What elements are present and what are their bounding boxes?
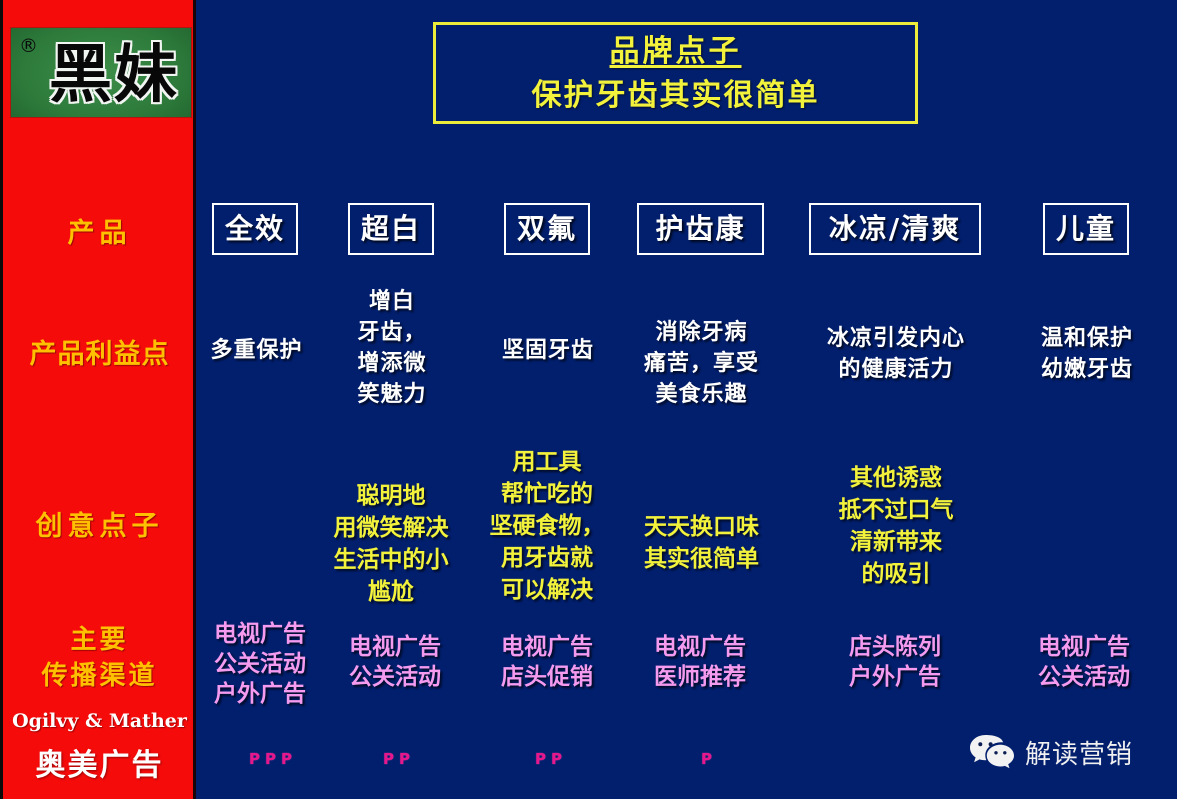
left-sidebar: ® 黑妹 产品 产品利益点 创意点子 主要 传播渠道 Ogilvy & Math…	[3, 0, 196, 799]
row-label-product: 产品	[3, 211, 196, 250]
slide-title-box: 品牌点子 保护牙齿其实很简单	[433, 22, 918, 124]
idea-cell-bingliang: 其他诱惑 抵不过口气 清新带来 的吸引	[803, 462, 989, 590]
wechat-watermark: 解读营销	[968, 733, 1133, 771]
benefit-cell-huchikang: 消除牙病 痛苦，享受 美食乐趣	[623, 317, 780, 410]
channel-cell-quanxiao: 电视广告 公关活动 户外广告	[199, 619, 321, 709]
agency-name-cn: 奥美广告	[3, 740, 196, 784]
channel-cell-huchikang: 电视广告 医师推荐	[637, 632, 763, 692]
marker-row-chaobai: PP	[375, 750, 423, 768]
slide-canvas: ® 黑妹 产品 产品利益点 创意点子 主要 传播渠道 Ogilvy & Math…	[0, 0, 1177, 799]
row-label-benefit: 产品利益点	[3, 332, 196, 371]
idea-cell-chaobai: 聪明地 用微笑解决 生活中的小 尴尬	[316, 480, 466, 608]
idea-cell-huchikang: 天天换口味 其实很简单	[628, 511, 775, 575]
watermark-label: 解读营销	[1025, 734, 1133, 771]
channel-cell-ertong: 电视广告 公关活动	[1021, 632, 1147, 692]
channel-cell-shuangfu: 电视广告 店头促销	[484, 632, 610, 692]
agency-name-en: Ogilvy & Mather	[3, 710, 196, 732]
row-label-channel: 主要 传播渠道	[3, 622, 196, 694]
benefit-cell-shuangfu: 坚固牙齿	[488, 335, 608, 366]
channel-cell-chaobai: 电视广告 公关活动	[332, 632, 458, 692]
product-box-quanxiao[interactable]: 全效	[212, 203, 298, 255]
marker-row-quanxiao: PPP	[243, 750, 303, 768]
benefit-cell-bingliang: 冰凉引发内心 的健康活力	[803, 323, 989, 385]
product-box-bingliang[interactable]: 冰凉/清爽	[809, 203, 981, 255]
product-box-chaobai[interactable]: 超白	[348, 203, 434, 255]
slide-title-main: 品牌点子	[436, 30, 915, 74]
product-box-shuangfu[interactable]: 双氟	[504, 203, 590, 255]
product-box-huchikang[interactable]: 护齿康	[637, 203, 764, 255]
benefit-cell-chaobai: 增白 牙齿， 增添微 笑魅力	[332, 286, 452, 410]
slide-title-sub: 保护牙齿其实很简单	[436, 74, 915, 118]
marker-row-huchikang: P	[693, 750, 725, 768]
benefit-cell-ertong: 温和保护 幼嫩牙齿	[1013, 323, 1161, 385]
benefit-cell-quanxiao: 多重保护	[199, 335, 314, 366]
row-label-idea: 创意点子	[3, 504, 196, 543]
brand-logo: ® 黑妹	[10, 27, 192, 118]
product-box-ertong[interactable]: 儿童	[1043, 203, 1129, 255]
wechat-icon	[968, 733, 1016, 771]
marker-row-shuangfu: PP	[527, 750, 575, 768]
idea-cell-shuangfu: 用工具 帮忙吃的 坚硬食物， 用牙齿就 可以解决	[477, 446, 617, 606]
channel-cell-bingliang: 店头陈列 户外广告	[832, 632, 958, 692]
brand-logo-text: 黑妹	[11, 36, 191, 114]
